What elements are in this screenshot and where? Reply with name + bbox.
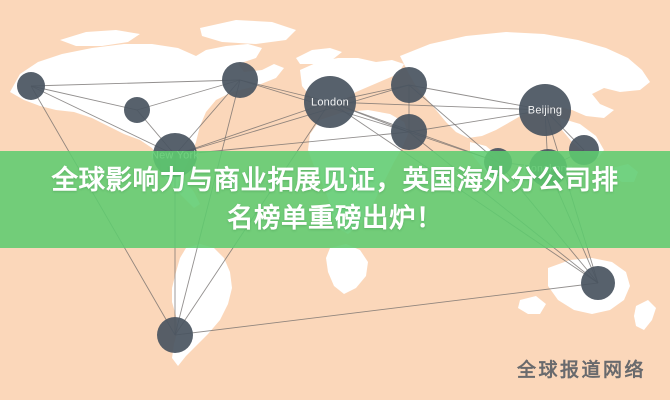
node-circle[interactable]: [581, 266, 615, 300]
headline-container: 全球影响力与商业拓展见证，英国海外分公司排名榜单重磅出炉！: [0, 151, 670, 248]
node-label-beijing: Beijing: [528, 104, 562, 116]
watermark-label: 全球报道网络: [517, 355, 646, 382]
map-node-canada[interactable]: [222, 62, 258, 98]
map-node-london[interactable]: London: [304, 76, 356, 128]
map-node-beijing[interactable]: Beijing: [519, 84, 571, 136]
page-title: 全球影响力与商业拓展见证，英国海外分公司排名榜单重磅出炉！: [40, 162, 630, 237]
map-node-europe[interactable]: [391, 67, 427, 103]
map-node-sydney[interactable]: [581, 266, 615, 300]
banner-image: New YorkLondonBeijingHongkong 全球影响力与商业拓展…: [0, 0, 670, 400]
node-circle[interactable]: [391, 67, 427, 103]
node-circle[interactable]: [391, 114, 427, 150]
map-node-vancouver[interactable]: [124, 97, 150, 123]
node-circle[interactable]: [17, 72, 45, 100]
map-node-mideast[interactable]: [391, 114, 427, 150]
node-circle[interactable]: [124, 97, 150, 123]
node-label-london: London: [311, 96, 349, 108]
node-circle[interactable]: [222, 62, 258, 98]
node-circle[interactable]: [157, 317, 193, 353]
map-node-alaska[interactable]: [17, 72, 45, 100]
map-node-saopaulo[interactable]: [157, 317, 193, 353]
